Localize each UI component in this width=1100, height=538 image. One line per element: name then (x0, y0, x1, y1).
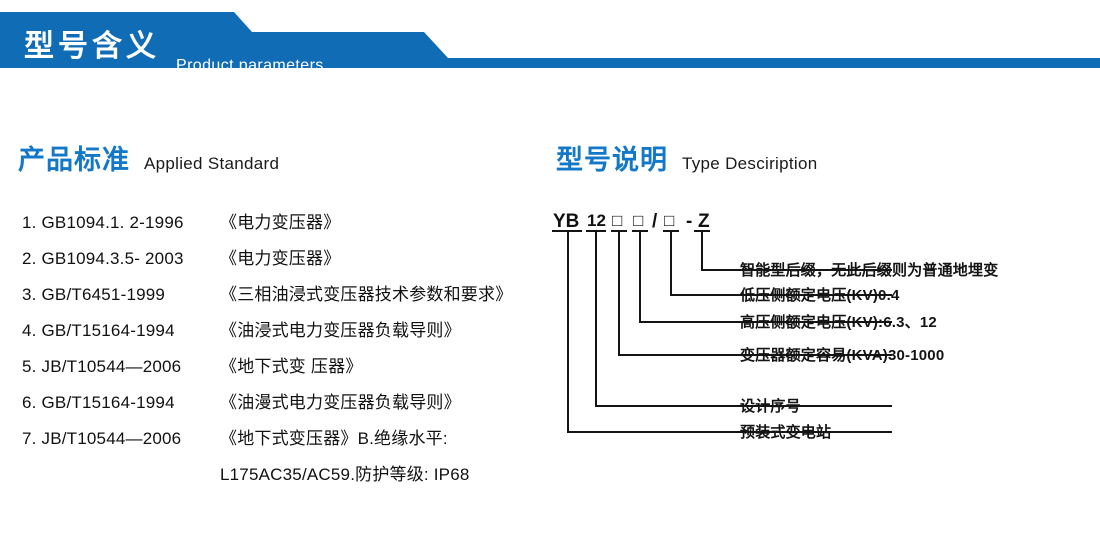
list-item: 1. GB1094.1. 2-1996 《电力变压器》 (22, 208, 542, 244)
leader-label-lv-voltage: 低压侧额定电压(KV)0.4 (740, 288, 899, 303)
standard-title: 《电力变压器》 (220, 244, 340, 269)
leader-label-substation: 预装式变电站 (740, 425, 831, 440)
standard-code: 4. GB/T15164-1994 (22, 321, 220, 341)
applied-standard-heading-en: Applied Standard (144, 154, 279, 173)
list-item: L175AC35/AC59.防护等级: IP68 (22, 460, 542, 496)
page-banner: 型号含义 Product parameters (0, 12, 1100, 78)
standard-title: 《地下式变 压器》 (220, 352, 363, 377)
banner-title-cn: 型号含义 (24, 32, 160, 62)
list-item: 5. JB/T10544—2006 《地下式变 压器》 (22, 352, 542, 388)
standard-code: 3. GB/T6451-1999 (22, 285, 220, 305)
standard-title: L175AC35/AC59.防护等级: IP68 (220, 460, 470, 485)
leader-label-capacity: 变压器额定容易(KVA)30-1000 (740, 348, 944, 363)
applied-standard-heading-cn: 产品标准 (18, 145, 130, 175)
standard-title: 《电力变压器》 (220, 208, 340, 233)
standard-title: 《油漫式电力变压器负载导则》 (220, 388, 461, 413)
type-code-diagram: YB 12 □ □ / □ - Z 智能型后缀，无此后缀则为普通 (540, 200, 1100, 460)
standard-title: 《地下式变压器》B.绝缘水平: (220, 424, 448, 449)
standard-code: 7. JB/T10544—2006 (22, 429, 220, 449)
leader-label-suffix: 智能型后缀，无此后缀则为普通地埋变 (740, 263, 998, 278)
list-item: 3. GB/T6451-1999 《三相油浸式变压器技术参数和要求》 (22, 280, 542, 316)
applied-standard-heading: 产品标准Applied Standard (18, 138, 279, 177)
list-item: 2. GB1094.3.5- 2003 《电力变压器》 (22, 244, 542, 280)
standard-title: 《三相油浸式变压器技术参数和要求》 (220, 280, 512, 305)
standard-code: 2. GB1094.3.5- 2003 (22, 249, 220, 269)
standard-title: 《油浸式电力变压器负载导则》 (220, 316, 461, 341)
standards-list: 1. GB1094.1. 2-1996 《电力变压器》 2. GB1094.3.… (22, 208, 542, 496)
standard-code: 1. GB1094.1. 2-1996 (22, 213, 220, 233)
type-description-heading-en: Type Desciription (682, 154, 818, 173)
type-description-heading-cn: 型号说明 (556, 145, 668, 175)
type-description-heading: 型号说明Type Desciription (556, 138, 818, 177)
list-item: 7. JB/T10544—2006 《地下式变压器》B.绝缘水平: (22, 424, 542, 460)
leader-label-hv-voltage: 高压侧额定电压(KV):6.3、12 (740, 315, 937, 330)
standard-code: 6. GB/T15164-1994 (22, 393, 220, 413)
list-item: 6. GB/T15164-1994 《油漫式电力变压器负载导则》 (22, 388, 542, 424)
list-item: 4. GB/T15164-1994 《油浸式电力变压器负载导则》 (22, 316, 542, 352)
standard-code: 5. JB/T10544—2006 (22, 357, 220, 377)
banner-title-en: Product parameters (176, 58, 324, 74)
leader-label-design-serial: 设计序号 (740, 399, 801, 414)
banner-shape (0, 12, 1100, 78)
